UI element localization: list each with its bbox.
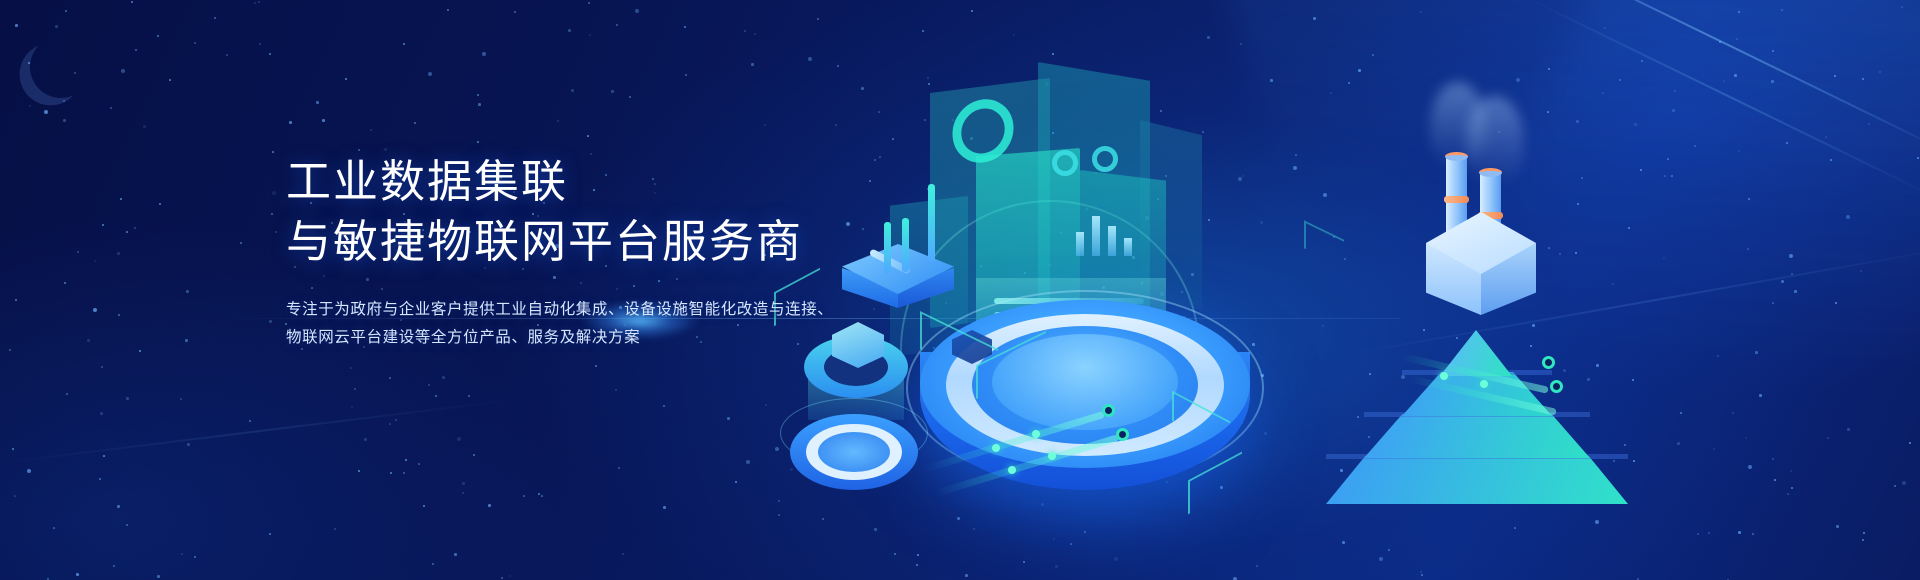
signal-node-icon (1550, 380, 1563, 393)
signal-pulse-dot (1048, 452, 1056, 460)
signal-node-icon (1542, 356, 1555, 369)
pyramid-tier-4 (1326, 456, 1628, 504)
page-title-line-1: 工业数据集联 (286, 152, 906, 212)
hero-banner: 工业数据集联 与敏捷物联网平台服务商 专注于为政府与企业客户提供工业自动化集成、… (0, 0, 1920, 580)
signal-node-icon (1102, 404, 1115, 417)
small-ring-icon (1052, 150, 1078, 176)
signal-pulse-dot (1440, 372, 1448, 380)
signal-pulse-dot (1480, 380, 1488, 388)
circuit-trace (1304, 220, 1344, 268)
hero-subcopy-line-1: 专注于为政府与企业客户提供工业自动化集成、设备设施智能化改造与连接、 (286, 296, 906, 325)
smokestack-band (1444, 196, 1469, 203)
diagonal-accent-line (2, 398, 518, 463)
hero-subcopy-line-2: 物联网云平台建设等全方位产品、服务及解决方案 (286, 324, 906, 353)
signal-pulse-dot (1008, 466, 1016, 474)
signal-node-icon (1116, 428, 1129, 441)
pedestal-ring-inner (818, 432, 890, 472)
router-antenna-icon (928, 184, 935, 262)
small-ring-icon (1092, 146, 1118, 172)
signal-pulse-dot (1032, 430, 1040, 438)
smokestack-cap (1479, 168, 1502, 177)
signal-pulse-dot (992, 444, 1000, 452)
hero-copy-block: 工业数据集联 与敏捷物联网平台服务商 专注于为政府与企业客户提供工业自动化集成、… (286, 152, 906, 353)
hero-illustration (780, 0, 1920, 580)
smokestack-cap (1445, 152, 1468, 161)
pyramid-tier-3 (1364, 414, 1590, 458)
page-title-line-2: 与敏捷物联网平台服务商 (286, 212, 906, 272)
crescent-moon-icon (25, 31, 97, 103)
bar-chart-icon (1076, 214, 1134, 256)
